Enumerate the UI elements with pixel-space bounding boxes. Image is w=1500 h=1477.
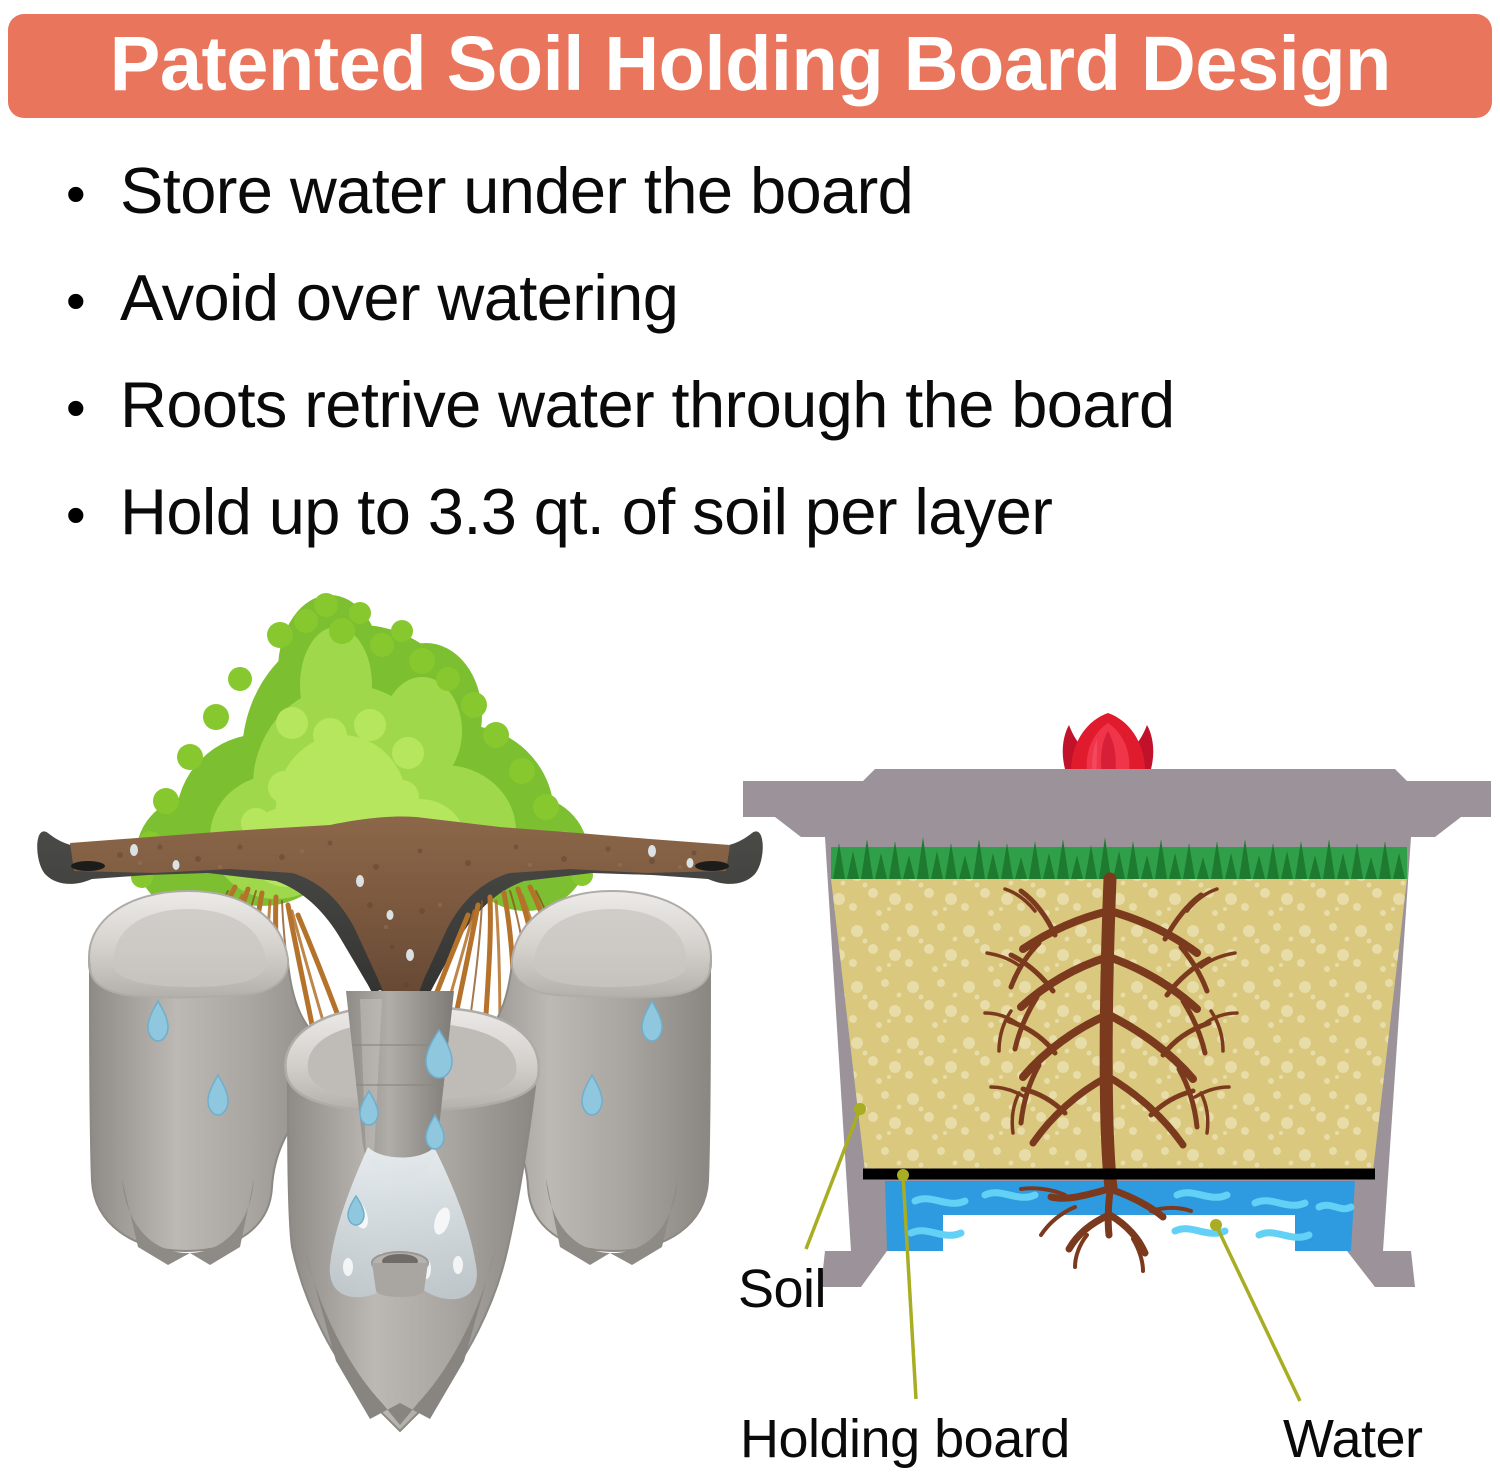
pot-cross-section-diagram (735, 695, 1500, 1395)
list-item: • Store water under the board (56, 158, 1456, 265)
feature-bullet-list: • Store water under the board • Avoid ov… (56, 158, 1456, 586)
bullet-marker-icon: • (56, 273, 120, 329)
callout-label-water: Water (1283, 1412, 1423, 1466)
stackable-planter-product-photo (30, 575, 770, 1455)
bullet-text: Avoid over watering (120, 265, 1456, 330)
bullet-text: Hold up to 3.3 qt. of soil per layer (120, 479, 1456, 544)
bullet-marker-icon: • (56, 487, 120, 543)
bullet-marker-icon: • (56, 380, 120, 436)
callout-label-soil: Soil (738, 1262, 826, 1316)
list-item: • Avoid over watering (56, 265, 1456, 372)
page-title: Patented Soil Holding Board Design (109, 26, 1390, 107)
bullet-text: Roots retrive water through the board (120, 372, 1456, 437)
list-item: • Roots retrive water through the board (56, 372, 1456, 479)
soil-layer (831, 879, 1407, 1171)
header-banner: Patented Soil Holding Board Design (8, 14, 1492, 118)
callout-label-holding-board: Holding board (740, 1412, 1070, 1466)
bullet-marker-icon: • (56, 166, 120, 222)
list-item: • Hold up to 3.3 qt. of soil per layer (56, 479, 1456, 586)
figures-area (0, 575, 1500, 1477)
bullet-text: Store water under the board (120, 158, 1456, 223)
